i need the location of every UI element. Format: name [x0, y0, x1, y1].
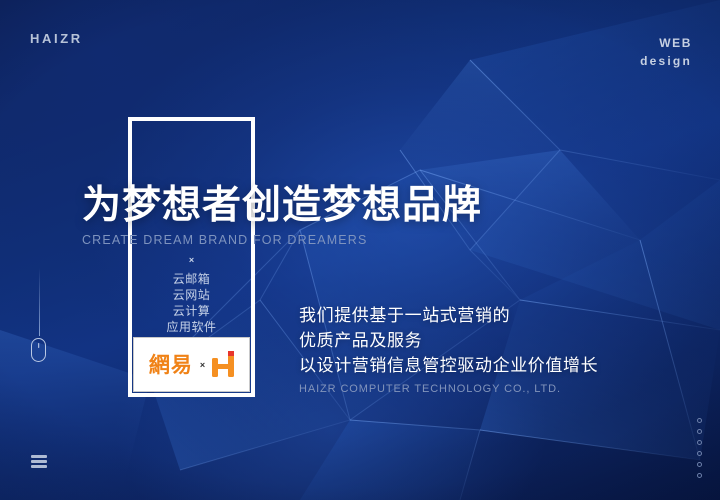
hero-stage: HAIZR WEB design 为梦想者创造梦想品牌 CREATE DREAM… — [0, 0, 720, 500]
hero-text-block: 为梦想者创造梦想品牌 CREATE DREAM BRAND FOR DREAME… — [82, 183, 482, 247]
partner-logo-card[interactable]: 網易 × — [133, 337, 250, 392]
copy-line: 我们提供基于一站式营销的 — [299, 303, 598, 328]
marketing-copy: 我们提供基于一站式营销的 优质产品及服务 以设计营销信息管控驱动企业价值增长 H… — [299, 303, 598, 395]
copy-line: 优质产品及服务 — [299, 328, 598, 353]
pagination-dot[interactable] — [697, 451, 702, 456]
service-list-items: 云邮箱 云网站 云计算 应用软件 — [128, 271, 255, 335]
list-item[interactable]: 云计算 — [128, 303, 255, 319]
pagination-dot[interactable] — [697, 440, 702, 445]
multiply-icon-card: × — [200, 360, 205, 370]
multiply-icon: × — [128, 254, 255, 266]
list-item[interactable]: 云邮箱 — [128, 271, 255, 287]
copy-line: 以设计营销信息管控驱动企业价值增长 — [299, 353, 598, 378]
tagline-line-web: WEB — [640, 34, 692, 52]
pagination-dot[interactable] — [697, 429, 702, 434]
pagination-dot[interactable] — [697, 462, 702, 467]
mouse-wheel-dot — [38, 343, 40, 348]
scroll-rail-line — [39, 268, 40, 336]
page-title: 为梦想者创造梦想品牌 — [82, 183, 482, 229]
page-subtitle: CREATE DREAM BRAND FOR DREAMERS — [82, 233, 482, 247]
pagination-dots[interactable] — [697, 418, 702, 478]
web-design-tagline: WEB design — [640, 34, 692, 70]
list-item[interactable]: 云网站 — [128, 287, 255, 303]
pagination-dot[interactable] — [697, 418, 702, 423]
haizr-h-icon — [212, 353, 234, 377]
list-item[interactable]: 应用软件 — [128, 319, 255, 335]
brand-logo[interactable]: HAIZR — [30, 31, 83, 46]
menu-icon[interactable] — [31, 455, 47, 468]
mouse-scroll-icon[interactable] — [31, 338, 46, 362]
netease-logo: 網易 — [149, 354, 193, 376]
pagination-dot[interactable] — [697, 473, 702, 478]
tagline-line-design: design — [640, 52, 692, 70]
company-name-en: HAIZR COMPUTER TECHNOLOGY CO., LTD. — [299, 383, 598, 395]
low-poly-background — [0, 0, 720, 500]
service-list: × 云邮箱 云网站 云计算 应用软件 — [128, 254, 255, 335]
